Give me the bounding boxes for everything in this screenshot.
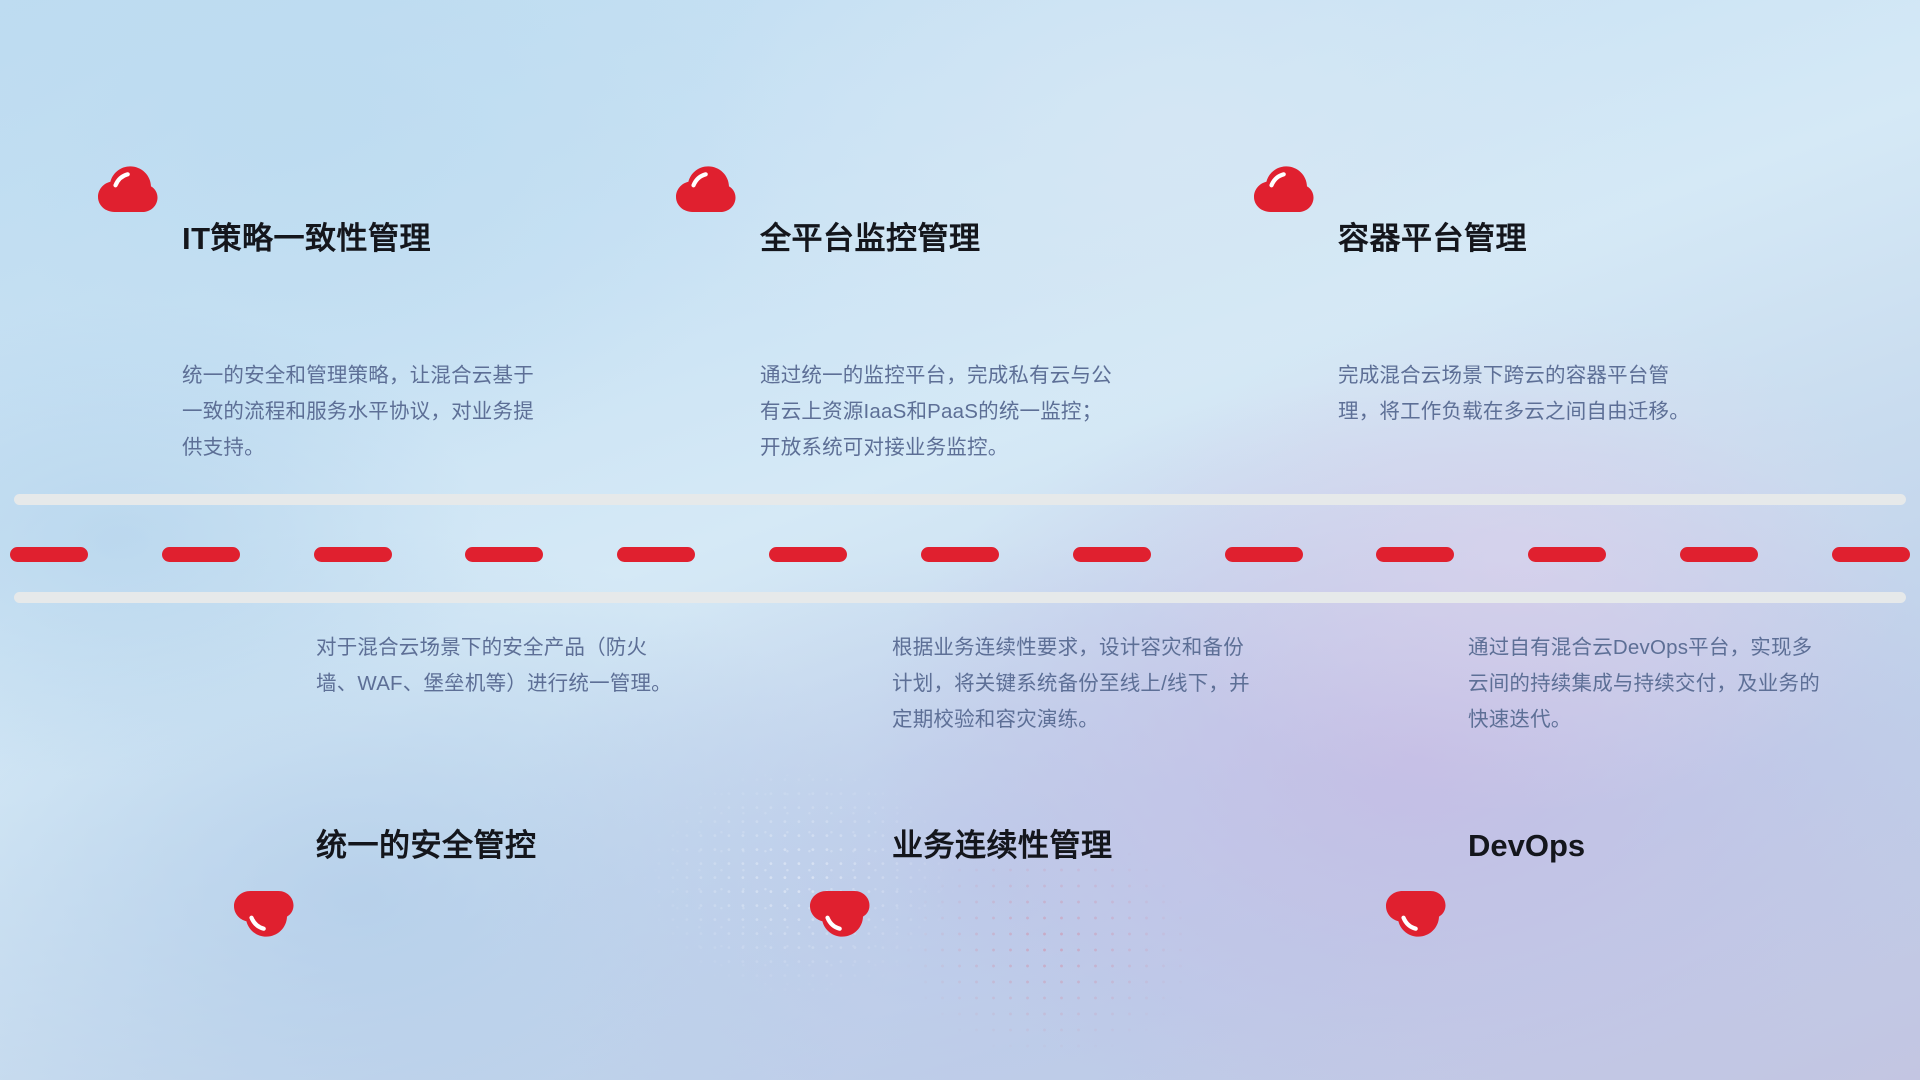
road-dash	[769, 547, 847, 562]
infographic-canvas: IT策略一致性管理 统一的安全和管理策略，让混合云基于一致的流程和服务水平协议，…	[0, 0, 1920, 1080]
card-body-bottom-3: 通过自有混合云DevOps平台，实现多云间的持续集成与持续交付，及业务的快速迭代…	[1468, 630, 1828, 738]
card-title-top-1: IT策略一致性管理	[182, 223, 431, 254]
road-dash	[314, 547, 392, 562]
card-body-top-1: 统一的安全和管理策略，让混合云基于一致的流程和服务水平协议，对业务提供支持。	[182, 358, 542, 466]
road-dash	[617, 547, 695, 562]
road-dash	[1832, 547, 1910, 562]
road-dash	[465, 547, 543, 562]
road-dash	[1376, 547, 1454, 562]
road-dash-strip	[0, 546, 1920, 562]
road-dash	[162, 547, 240, 562]
cloud-icon-bottom-2	[808, 890, 870, 942]
road-dash	[10, 547, 88, 562]
card-body-bottom-1: 对于混合云场景下的安全产品（防火墙、WAF、堡垒机等）进行统一管理。	[316, 630, 676, 702]
card-body-bottom-2: 根据业务连续性要求，设计容灾和备份计划，将关键系统备份至线上/线下，并定期校验和…	[892, 630, 1252, 738]
road-dash	[921, 547, 999, 562]
card-title-bottom-2: 业务连续性管理	[892, 830, 1113, 861]
cloud-icon-bottom-3	[1384, 890, 1446, 942]
card-title-bottom-1: 统一的安全管控	[316, 830, 537, 861]
sparkle-cluster-left	[640, 760, 960, 1000]
road-dash	[1528, 547, 1606, 562]
road-dash	[1680, 547, 1758, 562]
road-dash	[1225, 547, 1303, 562]
road-dash	[1073, 547, 1151, 562]
card-body-top-3: 完成混合云场景下跨云的容器平台管理，将工作负载在多云之间自由迁移。	[1338, 358, 1698, 430]
card-title-bottom-3: DevOps	[1468, 830, 1585, 861]
card-title-top-2: 全平台监控管理	[760, 223, 981, 254]
card-title-top-3: 容器平台管理	[1338, 223, 1527, 254]
card-body-top-2: 通过统一的监控平台，完成私有云与公有云上资源IaaS和PaaS的统一监控；开放系…	[760, 358, 1120, 466]
road-line-bottom	[14, 592, 1906, 603]
cloud-icon-top-1	[96, 161, 158, 213]
cloud-icon-top-2	[674, 161, 736, 213]
road-line-top	[14, 494, 1906, 505]
cloud-icon-bottom-1	[232, 890, 294, 942]
cloud-icon-top-3	[1252, 161, 1314, 213]
sparkle-cluster-right	[900, 830, 1200, 1060]
